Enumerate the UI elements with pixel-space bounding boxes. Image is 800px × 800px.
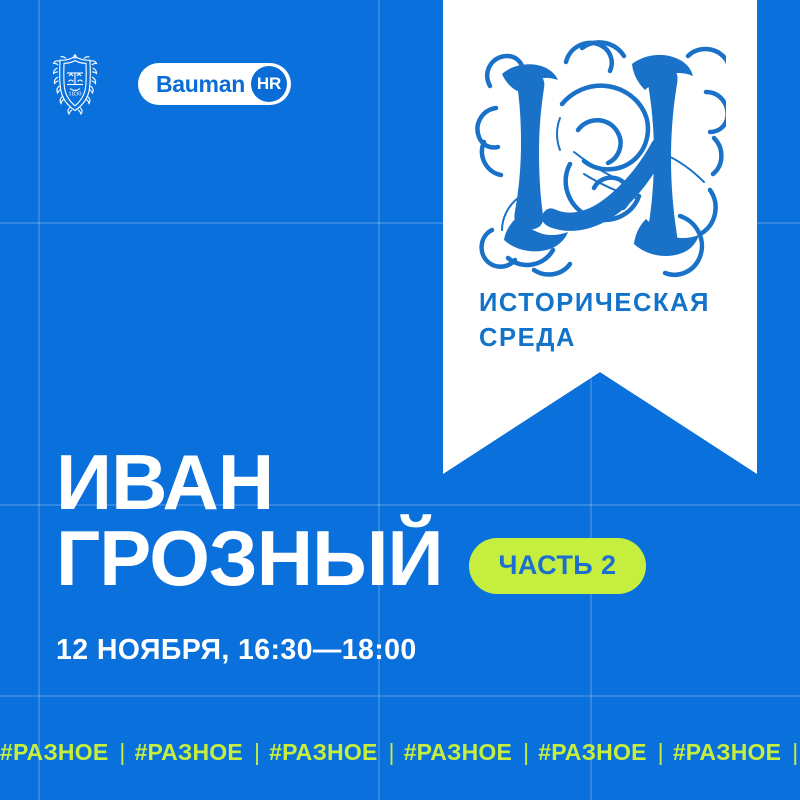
bmstu-shield-emblem: 1830: [46, 53, 104, 115]
grid-line-vertical: [378, 0, 380, 800]
hashtag-separator: |: [512, 741, 538, 764]
hashtag-separator: |: [647, 741, 673, 764]
hashtag-item[interactable]: #РАЗНОЕ: [538, 741, 646, 764]
hashtag-separator: |: [243, 741, 269, 764]
bauman-hr-logo[interactable]: Bauman HR: [138, 63, 291, 105]
hashtag-separator: |: [781, 741, 800, 764]
hashtag-separator: |: [378, 741, 404, 764]
ribbon-title-line2: СРЕДА: [479, 321, 710, 356]
hr-badge: HR: [251, 66, 287, 102]
event-title-row2: ГРОЗНЫЙ ЧАСТЬ 2: [56, 521, 646, 597]
event-title-line1: ИВАН: [56, 445, 646, 521]
hashtag-item[interactable]: #РАЗНОЕ: [673, 741, 781, 764]
hashtag-item[interactable]: #РАЗНОЕ: [404, 741, 512, 764]
ribbon-title-line1: ИСТОРИЧЕСКАЯ: [479, 286, 710, 321]
hashtag-item[interactable]: #РАЗНОЕ: [135, 741, 243, 764]
part-badge: ЧАСТЬ 2: [469, 538, 647, 594]
grid-line-horizontal: [0, 695, 800, 697]
ribbon-title: ИСТОРИЧЕСКАЯ СРЕДА: [469, 286, 710, 356]
hashtag-separator: |: [108, 741, 134, 764]
grid-line-vertical: [38, 0, 40, 800]
main-title-block: ИВАН ГРОЗНЫЙ ЧАСТЬ 2 12 НОЯБРЯ, 16:30—18…: [56, 445, 646, 667]
hashtag-item[interactable]: #РАЗНОЕ: [0, 741, 108, 764]
event-datetime: 12 НОЯБРЯ, 16:30—18:00: [56, 634, 646, 667]
bauman-wordmark: Bauman: [156, 73, 245, 96]
hashtag-item[interactable]: #РАЗНОЕ: [269, 741, 377, 764]
emblem-year: 1830: [68, 91, 82, 98]
hashtag-strip: #РАЗНОЕ|#РАЗНОЕ|#РАЗНОЕ|#РАЗНОЕ|#РАЗНОЕ|…: [0, 732, 800, 772]
event-title-line2: ГРОЗНЫЙ: [56, 521, 443, 597]
poster-canvas: 1830 Bauman HR: [0, 0, 800, 800]
header-logos: 1830 Bauman HR: [46, 54, 800, 114]
